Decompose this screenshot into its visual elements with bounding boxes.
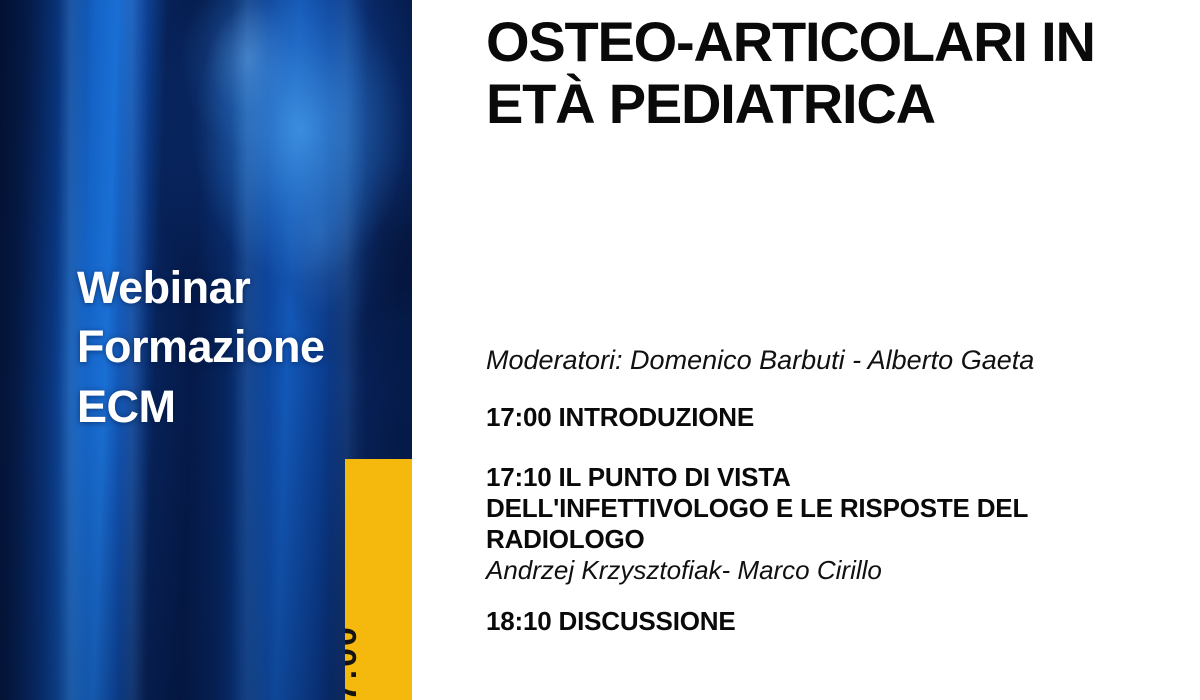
session-heading: 18:10 DISCUSSIONE — [486, 606, 1086, 637]
moderators-line: Moderatori: Domenico Barbuti - Alberto G… — [486, 345, 1034, 376]
session-item: 17:00 INTRODUZIONE — [486, 402, 1086, 433]
session-item: 17:10 IL PUNTO DI VISTA DELL'INFETTIVOLO… — [486, 462, 1086, 586]
session-heading: 17:00 INTRODUZIONE — [486, 402, 1086, 433]
date-band: RAIO 17:00 — [345, 459, 412, 700]
date-band-text: RAIO 17:00 — [345, 586, 379, 700]
webinar-heading: Webinar Formazione ECM — [77, 258, 377, 436]
session-heading-line: 17:00 INTRODUZIONE — [486, 402, 1086, 433]
session-heading-line: DELL'INFETTIVOLOGO E LE RISPOSTE DEL — [486, 493, 1086, 524]
session-speakers: Andrzej Krzysztofiak- Marco Cirillo — [486, 555, 1086, 586]
webinar-heading-line-1: Webinar — [77, 258, 377, 317]
page-title: INFEZIONI OSTEO-ARTICOLARI IN ETÀ PEDIAT… — [486, 0, 1086, 136]
webinar-heading-line-2: Formazione — [77, 317, 377, 376]
webinar-poster: Webinar Formazione ECM RAIO 17:00 INFEZI… — [0, 0, 1200, 700]
webinar-heading-line-3: ECM — [77, 377, 377, 436]
session-heading-line: 18:10 DISCUSSIONE — [486, 606, 1086, 637]
main-content: INFEZIONI OSTEO-ARTICOLARI IN ETÀ PEDIAT… — [486, 0, 1146, 700]
session-heading: 17:10 IL PUNTO DI VISTA DELL'INFETTIVOLO… — [486, 462, 1086, 555]
page-title-line-2: OSTEO-ARTICOLARI IN — [486, 11, 1086, 74]
page-title-line-3: ETÀ PEDIATRICA — [486, 73, 1086, 136]
session-heading-line: RADIOLOGO — [486, 524, 1086, 555]
session-heading-line: 17:10 IL PUNTO DI VISTA — [486, 462, 1086, 493]
session-item: 18:10 DISCUSSIONE — [486, 606, 1086, 637]
